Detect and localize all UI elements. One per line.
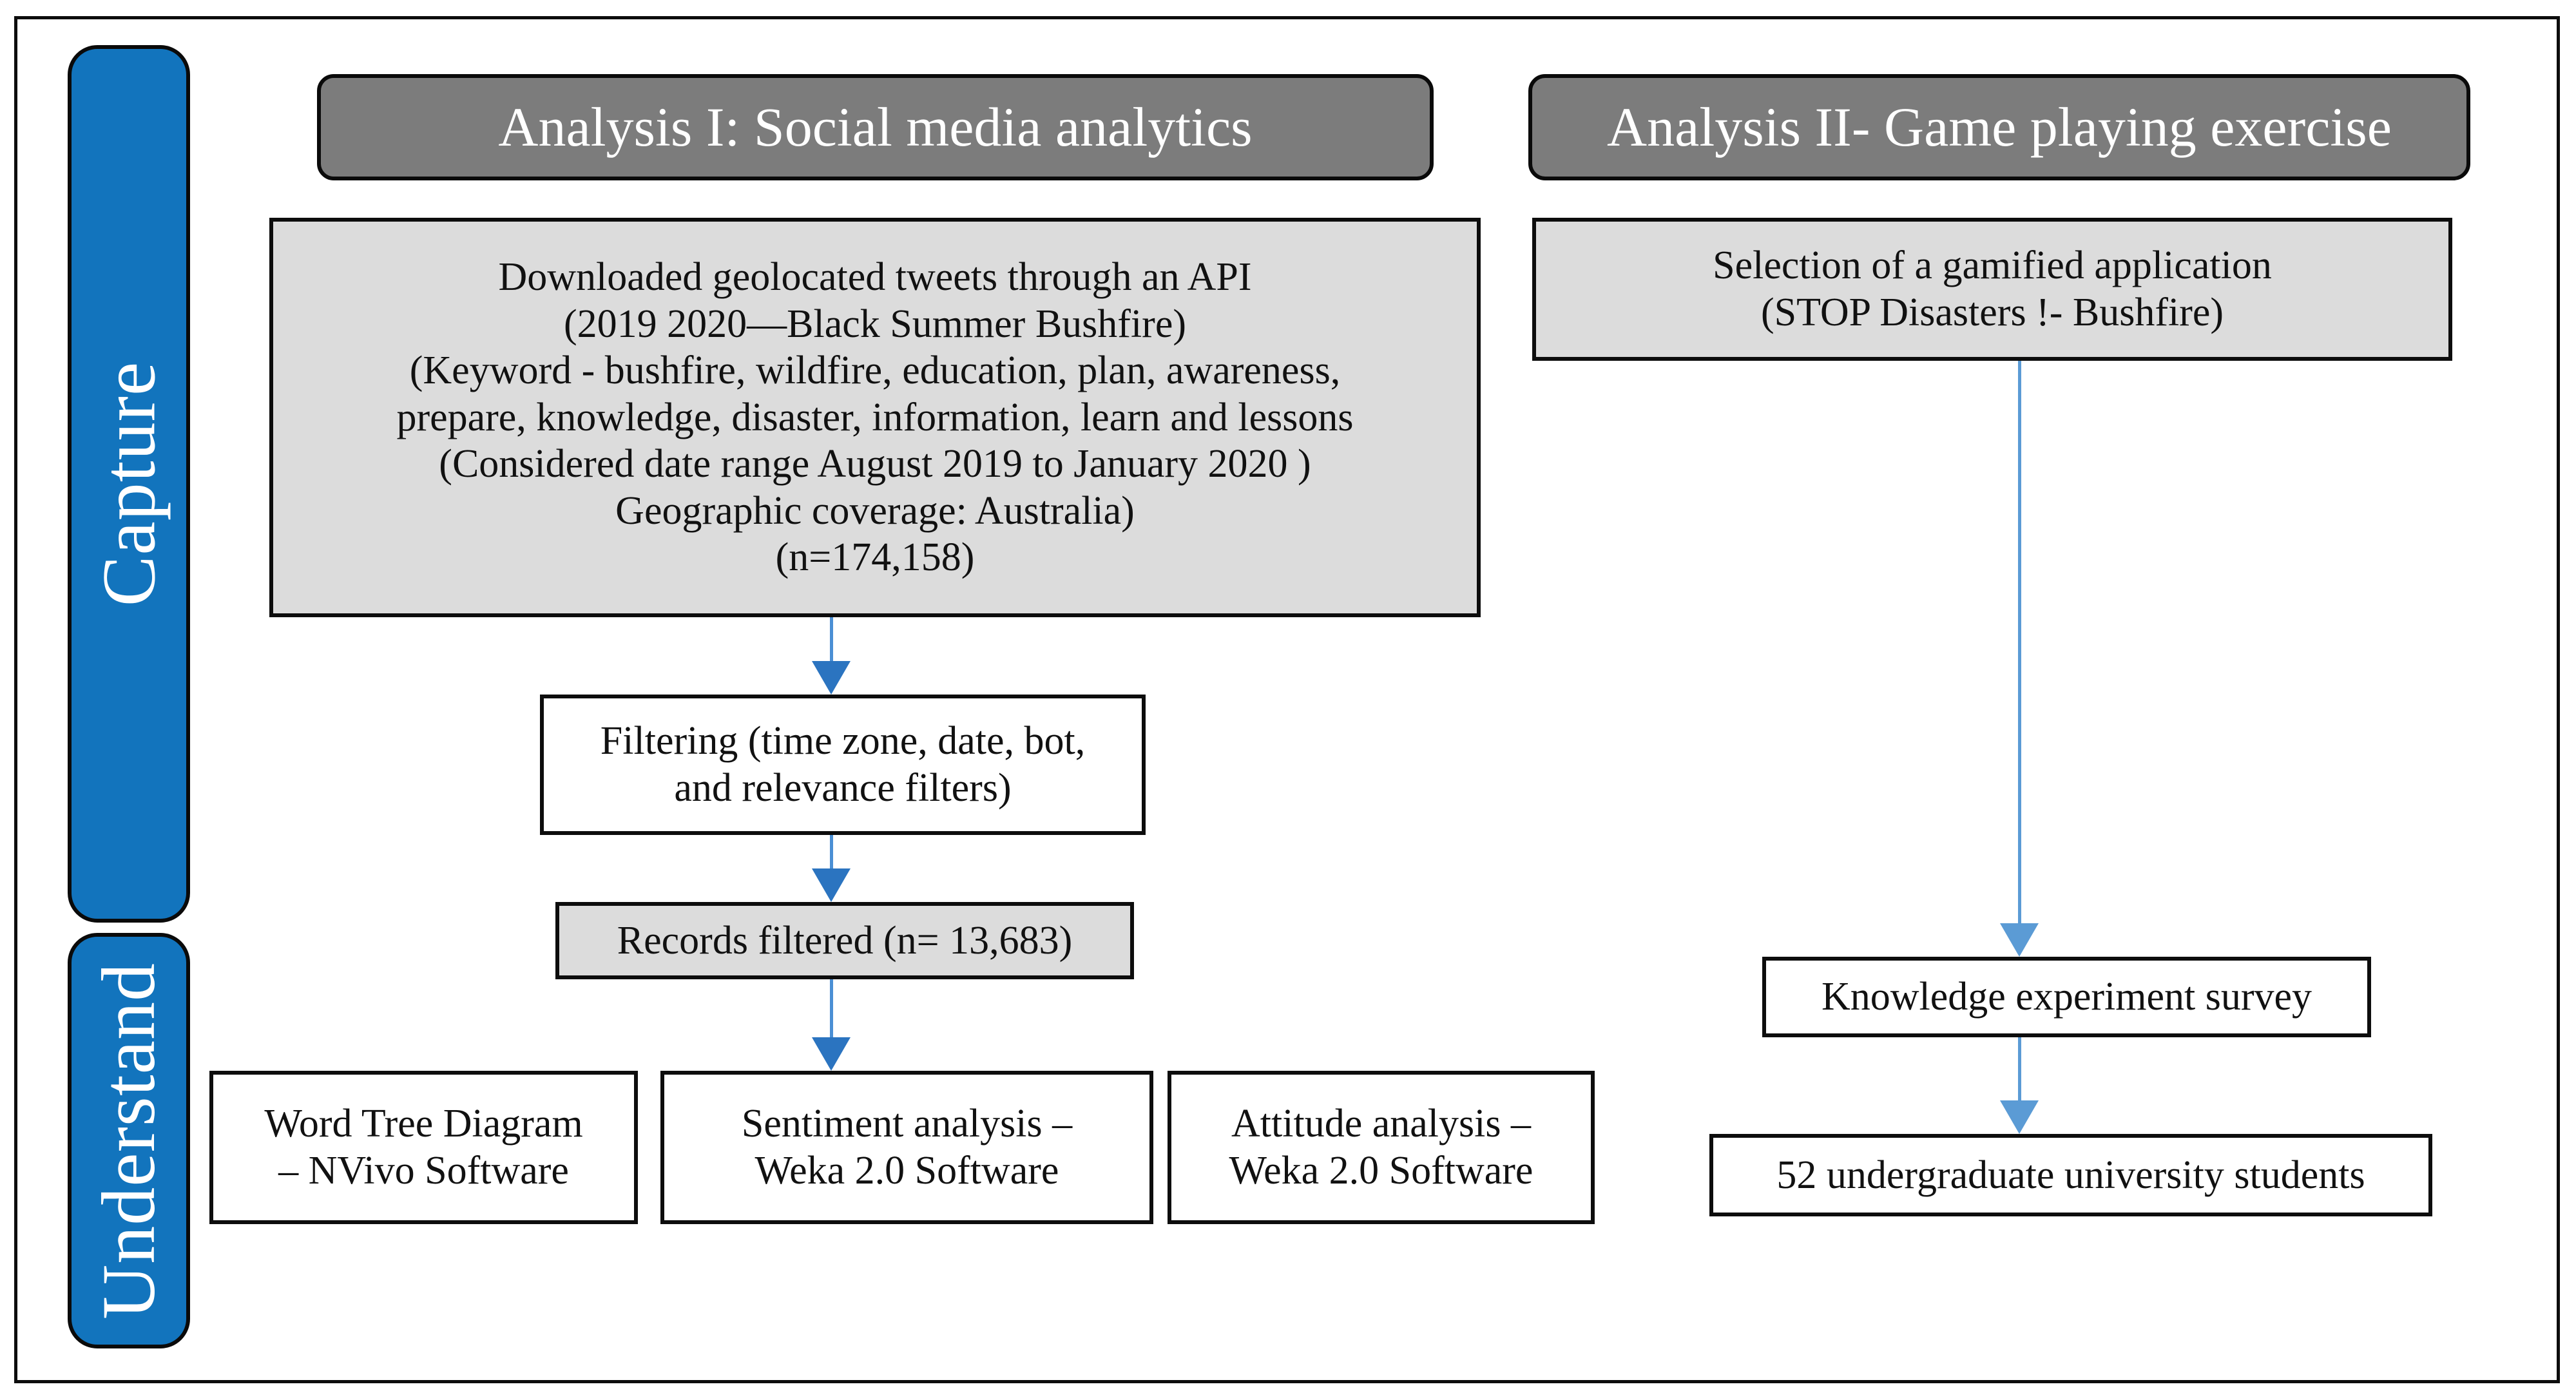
- node-word-tree-diagram: Word Tree Diagram – NVivo Software: [209, 1071, 638, 1224]
- flowchart-canvas: Capture Understand Analysis I: Social me…: [0, 0, 2576, 1400]
- phase-label-capture: Capture: [91, 361, 167, 607]
- section-header-analysis-1: Analysis I: Social media analytics: [317, 74, 1434, 180]
- section-header-analysis-2: Analysis II- Game playing exercise: [1528, 74, 2470, 180]
- node-knowledge-experiment-survey: Knowledge experiment survey: [1762, 957, 2371, 1037]
- node-gamified-application: Selection of a gamified application (STO…: [1532, 218, 2452, 361]
- phase-strip-understand: Understand: [68, 933, 190, 1348]
- node-undergraduate-students: 52 undergraduate university students: [1709, 1134, 2432, 1216]
- node-records-filtered: Records filtered (n= 13,683): [555, 902, 1134, 979]
- node-downloaded-tweets: Downloaded geolocated tweets through an …: [269, 218, 1481, 617]
- node-filtering: Filtering (time zone, date, bot, and rel…: [540, 695, 1146, 835]
- phase-label-understand: Understand: [91, 963, 167, 1319]
- node-attitude-analysis: Attitude analysis – Weka 2.0 Software: [1168, 1071, 1595, 1224]
- node-sentiment-analysis: Sentiment analysis – Weka 2.0 Software: [660, 1071, 1153, 1224]
- phase-strip-capture: Capture: [68, 45, 190, 923]
